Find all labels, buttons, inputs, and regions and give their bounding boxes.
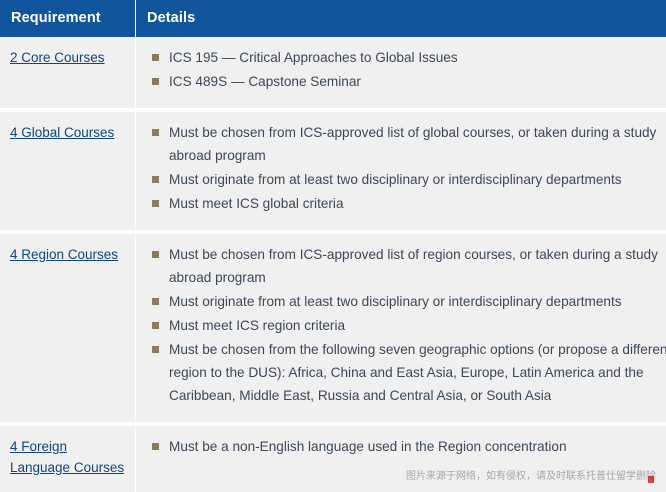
table-header: Requirement Details (0, 0, 666, 37)
watermark-red-mark (648, 476, 654, 483)
details-list: Must be chosen from ICS-approved list of… (152, 121, 666, 215)
requirement-link[interactable]: 4 Region Courses (10, 247, 118, 262)
detail-text: Must be chosen from ICS-approved list of… (169, 247, 658, 285)
detail-item: Must be chosen from ICS-approved list of… (152, 121, 666, 167)
table-body: 2 Core CoursesICS 195 — Critical Approac… (0, 37, 666, 492)
source-watermark: 图片来源于网络，如有侵权，请及时联系托普仕留学删除 (406, 471, 656, 483)
details-list: Must be a non-English language used in t… (152, 435, 666, 458)
details-list: ICS 195 — Critical Approaches to Global … (152, 46, 666, 93)
detail-text: ICS 489S — Capstone Seminar (169, 74, 361, 89)
requirement-cell: 4 Region Courses (0, 234, 136, 426)
square-bullet-icon (152, 346, 159, 353)
detail-text: Must meet ICS region criteria (169, 318, 345, 333)
detail-item: Must originate from at least two discipl… (152, 290, 666, 313)
column-header-details: Details (136, 0, 666, 37)
header-row: Requirement Details (0, 0, 666, 37)
square-bullet-icon (152, 176, 159, 183)
detail-item: Must be chosen from the following seven … (152, 338, 666, 407)
detail-item: ICS 195 — Critical Approaches to Global … (152, 46, 666, 69)
details-cell: ICS 195 — Critical Approaches to Global … (136, 37, 666, 112)
requirement-link[interactable]: 2 Core Courses (10, 50, 105, 65)
detail-text: Must be a non-English language used in t… (169, 439, 567, 454)
table-row: 4 Region CoursesMust be chosen from ICS-… (0, 234, 666, 426)
column-header-requirement: Requirement (0, 0, 136, 37)
detail-text: Must be chosen from the following seven … (169, 342, 666, 403)
detail-text: ICS 195 — Critical Approaches to Global … (169, 50, 458, 65)
square-bullet-icon (152, 298, 159, 305)
detail-text: Must meet ICS global criteria (169, 196, 344, 211)
requirement-link[interactable]: 4 Foreign Language Courses (10, 439, 124, 475)
requirement-cell: 4 Global Courses (0, 112, 136, 234)
detail-item: ICS 489S — Capstone Seminar (152, 70, 666, 93)
table-row: 4 Global CoursesMust be chosen from ICS-… (0, 112, 666, 234)
square-bullet-icon (152, 78, 159, 85)
detail-item: Must meet ICS region criteria (152, 314, 666, 337)
detail-item: Must originate from at least two discipl… (152, 168, 666, 191)
table-row: 2 Core CoursesICS 195 — Critical Approac… (0, 37, 666, 112)
square-bullet-icon (152, 200, 159, 207)
square-bullet-icon (152, 322, 159, 329)
watermark-text: 图片来源于网络，如有侵权，请及时联系托普仕留学删除 (406, 471, 656, 482)
detail-text: Must originate from at least two discipl… (169, 172, 622, 187)
details-list: Must be chosen from ICS-approved list of… (152, 243, 666, 407)
detail-item: Must meet ICS global criteria (152, 192, 666, 215)
requirements-table: Requirement Details 2 Core CoursesICS 19… (0, 0, 666, 492)
requirement-cell: 2 Core Courses (0, 37, 136, 112)
square-bullet-icon (152, 251, 159, 258)
details-cell: Must be chosen from ICS-approved list of… (136, 234, 666, 426)
detail-text: Must originate from at least two discipl… (169, 294, 622, 309)
requirement-link[interactable]: 4 Global Courses (10, 125, 114, 140)
square-bullet-icon (152, 443, 159, 450)
detail-item: Must be a non-English language used in t… (152, 435, 666, 458)
details-cell: Must be chosen from ICS-approved list of… (136, 112, 666, 234)
square-bullet-icon (152, 54, 159, 61)
detail-text: Must be chosen from ICS-approved list of… (169, 125, 656, 163)
requirement-cell: 4 Foreign Language Courses (0, 426, 136, 492)
detail-item: Must be chosen from ICS-approved list of… (152, 243, 666, 289)
square-bullet-icon (152, 129, 159, 136)
